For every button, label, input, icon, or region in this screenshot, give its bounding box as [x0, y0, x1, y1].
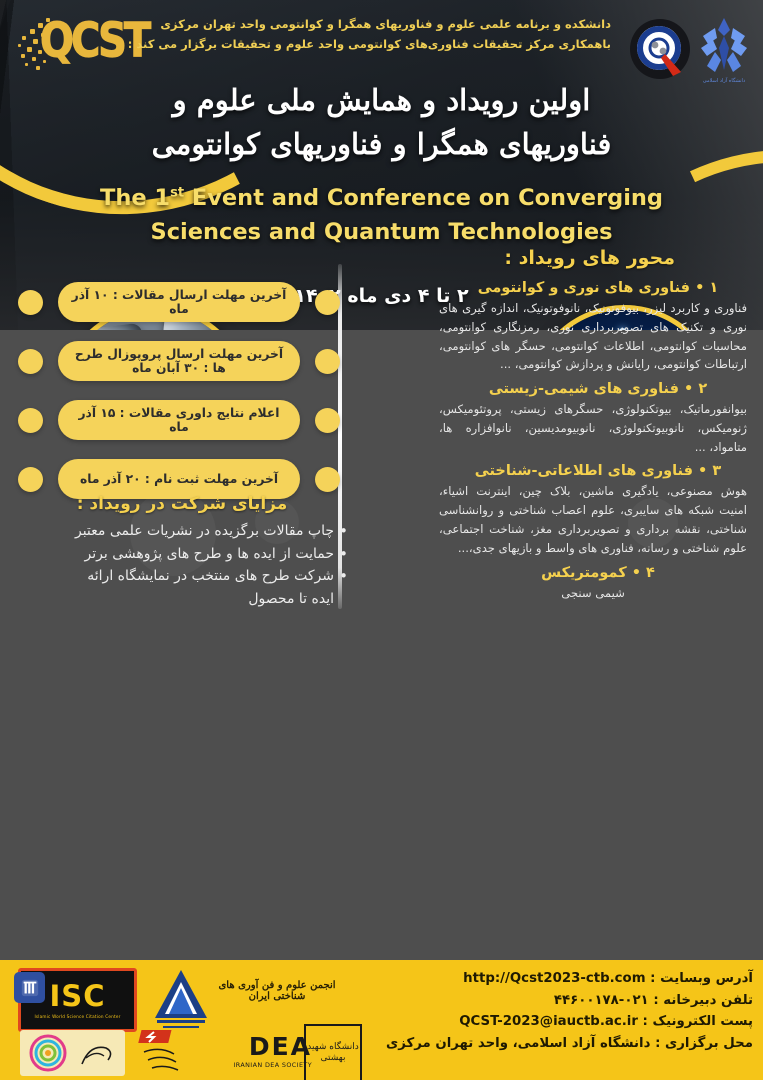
english-title-prefix: The 1: [100, 185, 170, 211]
cognitive-society-name: انجمن علوم و فن آوری های شناختی ایران: [218, 980, 336, 1002]
deadline-row: آخرین مهلت ارسال مقالات : ۱۰ آذر ماه: [14, 282, 344, 326]
isc-wordmark: ISC: [50, 982, 106, 1011]
venue-line: محل برگزاری : دانشگاه آزاد اسلامی، واحد …: [353, 1033, 753, 1055]
organizer-line-2: باهمکاری مرکز تحقیقات فناوری‌های کوانتوم…: [141, 34, 611, 54]
deadline-badge: آخرین مهلت ارسال پروپوزال طرح ها : ۳۰ آب…: [58, 341, 300, 381]
badge-dot-left: [18, 349, 43, 374]
isc-subtitle: Islamic World Science Citation Center: [34, 1014, 120, 1019]
organizer-text: دانشکده و برنامه علمی علوم و فناوریهای ه…: [141, 14, 611, 54]
dea-society-logo: DEA IRANIAN DEA SOCIETY: [202, 1034, 312, 1076]
benefit-continuation: ایده تا محصول: [14, 588, 350, 611]
badge-dot-right: [315, 467, 340, 492]
deadline-row: اعلام نتایج داوری مقالات : ۱۵ آذر ماه: [14, 400, 344, 444]
benefits-heading: مزایای شرکت در رویداد :: [14, 494, 350, 514]
deadline-badge: آخرین مهلت ارسال مقالات : ۱۰ آذر ماه: [58, 282, 300, 322]
phone-line: تلفن دبیرخانه : ۰۲۱-۴۴۶۰۰۱۷۸: [353, 990, 753, 1012]
deadline-badges: آخرین مهلت ارسال مقالات : ۱۰ آذر ماه آخر…: [14, 282, 344, 518]
benefit-item: شرکت طرح های منتخب در نمایشگاه ارائه: [14, 565, 350, 588]
persian-title-line-2: فناوریهای همگرا و فناوریهای کوانتومی: [70, 122, 693, 166]
badge-dot-left: [18, 408, 43, 433]
topic-body: هوش مصنوعی، یادگیری ماشین، بلاک چین، این…: [433, 482, 753, 557]
dea-subtitle: IRANIAN DEA SOCIETY: [202, 1061, 312, 1069]
quantum-center-logo: [629, 18, 691, 80]
benefit-item: حمایت از ایده ها و طرح های پژوهشی برتر: [14, 543, 350, 566]
email-line[interactable]: پست الکترونیک : QCST-2023@iauctb.ac.ir: [353, 1011, 753, 1033]
conference-poster: QCST دانشکده و برنامه علمی علوم و فناوری…: [0, 0, 763, 1080]
badge-dot-left: [18, 467, 43, 492]
topic-title: ۱ • فناوری های نوری و کوانتومی: [433, 280, 753, 296]
qcst-logo: QCST: [14, 12, 146, 74]
topic-body: بیوانفورماتیک، بیوتکنولوژی، حسگرهای زیست…: [433, 400, 753, 456]
badge-dot-right: [315, 408, 340, 433]
topic-title: ۴ • کمومتریکس: [433, 565, 753, 581]
contact-info: آدرس وبسایت : http://Qcst2023-ctb.com تل…: [353, 968, 753, 1054]
benefits-section: مزایای شرکت در رویداد : چاپ مقالات برگزی…: [14, 494, 350, 611]
axes-heading: محور های رویداد :: [504, 247, 675, 269]
badge-dot-left: [18, 290, 43, 315]
topic-item: ۴ • کمومتریکس شیمی سنجی: [433, 565, 753, 603]
topic-body: فناوری و کاربرد لیزر، بیوفوتونیک، نانوفو…: [433, 299, 753, 374]
sponsor-logos: ISC Islamic World Science Citation Cente…: [6, 964, 336, 1076]
topic-title: ۳ • فناوری های اطلاعاتی-شناختی: [433, 463, 753, 479]
badge-dot-right: [315, 349, 340, 374]
topic-item: ۳ • فناوری های اطلاعاتی-شناختی هوش مصنوع…: [433, 463, 753, 557]
footer: ISC Islamic World Science Citation Cente…: [0, 960, 763, 1080]
deadline-badge: اعلام نتایج داوری مقالات : ۱۵ آذر ماه: [58, 400, 300, 440]
organizer-line-1: دانشکده و برنامه علمی علوم و فناوریهای ه…: [141, 14, 611, 34]
persian-title-line-1: اولین رویداد و همایش ملی علوم و: [70, 78, 693, 122]
topic-item: ۲ • فناوری های شیمی-زیستی بیوانفورماتیک،…: [433, 381, 753, 456]
deadline-badge: آخرین مهلت ثبت نام : ۲۰ آذر ماه: [58, 459, 300, 499]
topic-item: ۱ • فناوری های نوری و کوانتومی فناوری و …: [433, 280, 753, 374]
website-icon: [14, 972, 45, 1003]
persian-title: اولین رویداد و همایش ملی علوم و فناوریها…: [0, 78, 763, 166]
english-title-rest: Event and Conference on Converging: [184, 185, 663, 211]
badge-dot-right: [315, 290, 340, 315]
website-line[interactable]: آدرس وبسایت : http://Qcst2023-ctb.com: [353, 968, 753, 990]
university-triangle-logo: [141, 966, 221, 1034]
english-title-line-2: Sciences and Quantum Technologies: [40, 216, 723, 250]
benefit-item: چاپ مقالات برگزیده در نشریات علمی معتبر: [14, 520, 350, 543]
niroo-research-logo: [134, 1028, 206, 1076]
english-title: The 1st Event and Conference on Convergi…: [0, 182, 763, 250]
topic-title: ۲ • فناوری های شیمی-زیستی: [433, 381, 753, 397]
ordinal-suffix: st: [170, 186, 184, 201]
deadline-row: آخرین مهلت ارسال پروپوزال طرح ها : ۳۰ آب…: [14, 341, 344, 385]
dea-wordmark: DEA: [202, 1034, 312, 1059]
axes-topics-list: ۱ • فناوری های نوری و کوانتومی فناوری و …: [433, 280, 753, 609]
rainbow-circle-logo: [20, 1030, 125, 1076]
english-title-line-1: The 1st Event and Conference on Convergi…: [40, 182, 723, 216]
topic-body: شیمی سنجی: [433, 584, 753, 603]
